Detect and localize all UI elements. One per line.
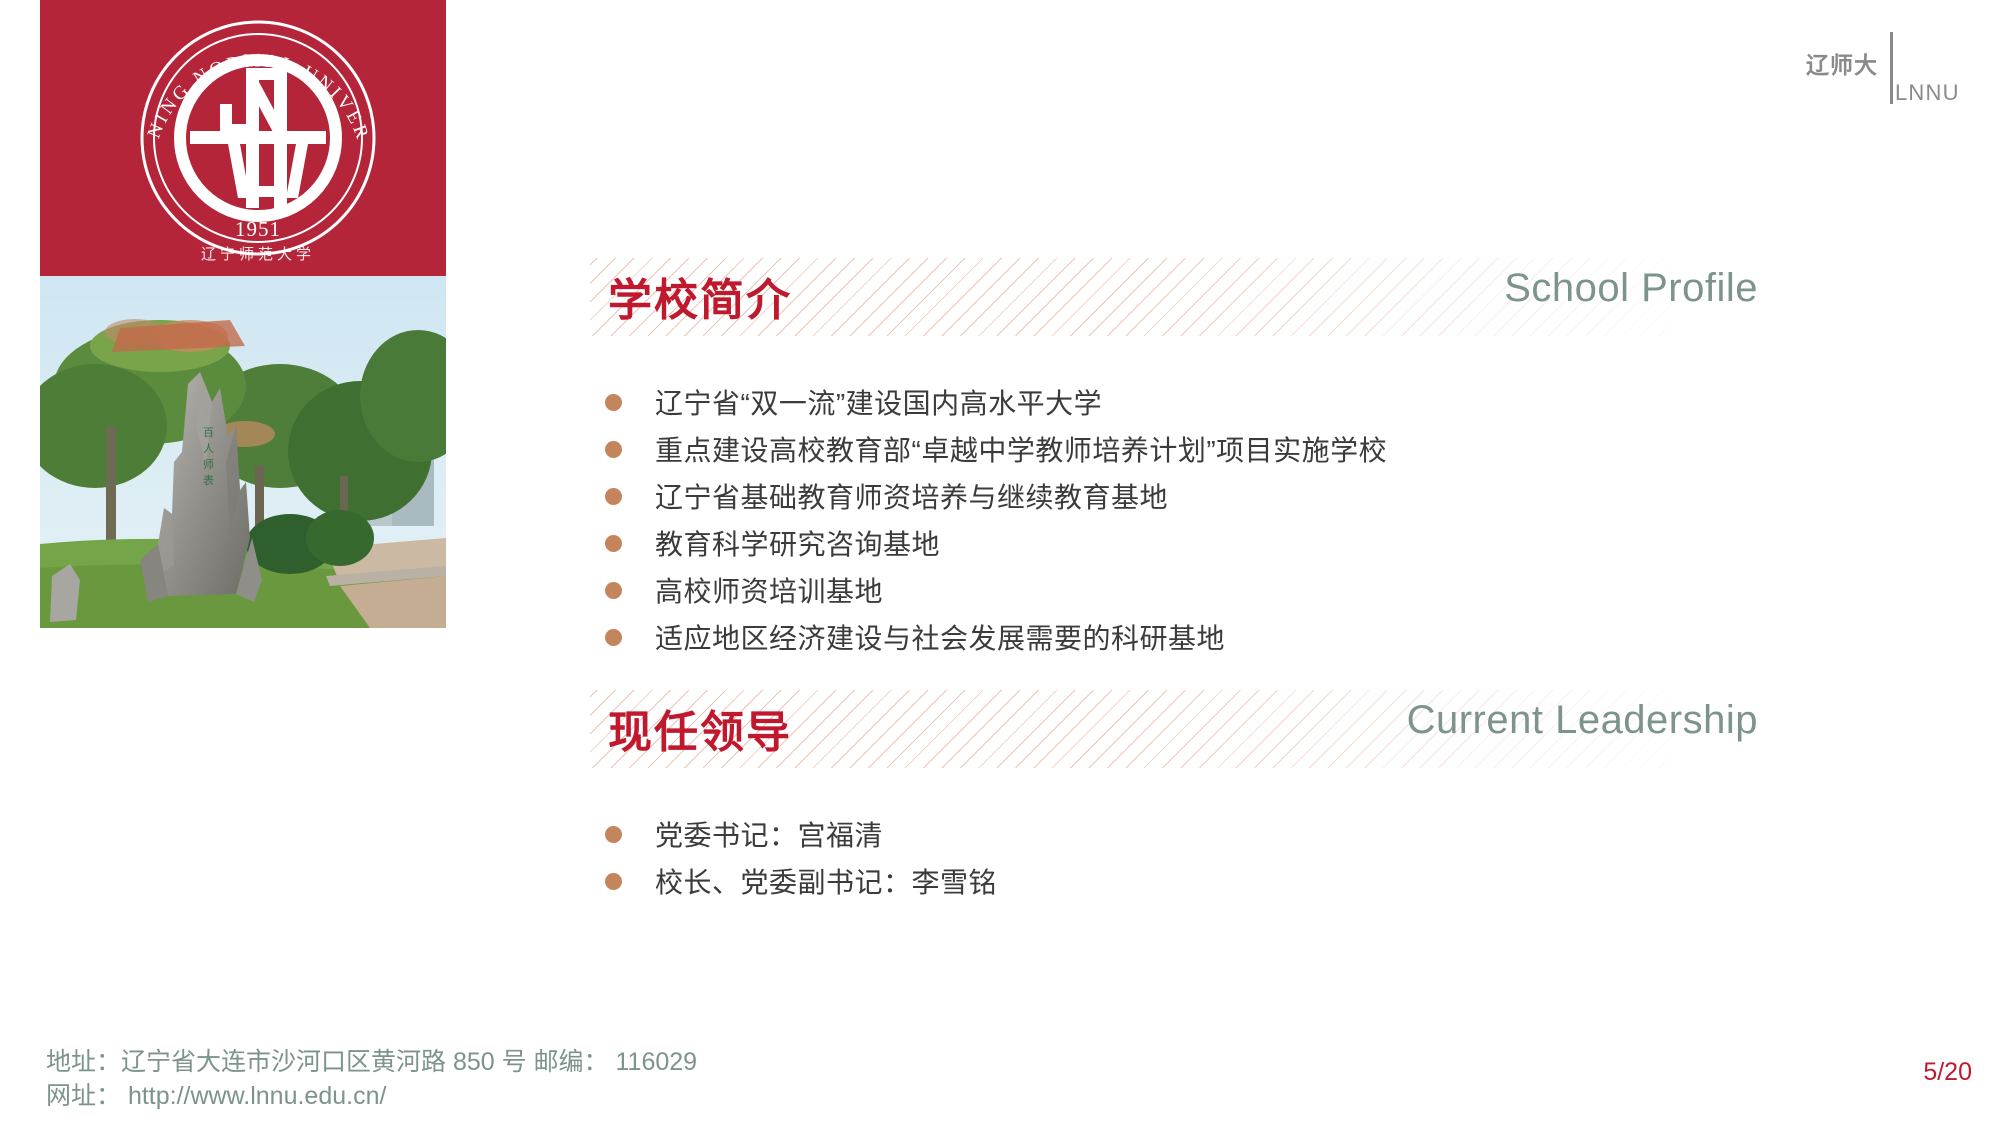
svg-text:人: 人 (203, 442, 214, 455)
bullet-dot-icon (605, 394, 622, 411)
list-item: 适应地区经济建设与社会发展需要的科研基地 (605, 615, 1805, 662)
footer-contact: 地址：辽宁省大连市沙河口区黄河路 850 号 邮编： 116029 网址： ht… (46, 1046, 697, 1114)
svg-text:1951: 1951 (235, 217, 281, 241)
list-item: 党委书记：宫福清 (605, 812, 1805, 859)
list-item: 辽宁省基础教育师资培养与继续教育基地 (605, 474, 1805, 521)
svg-text:辽宁师范大学: 辽宁师范大学 (201, 245, 315, 263)
list-item-label: 高校师资培训基地 (655, 570, 883, 610)
list-item: 重点建设高校教育部“卓越中学教师培养计划”项目实施学校 (605, 427, 1805, 474)
bullet-dot-icon (605, 582, 622, 599)
list-item-label: 重点建设高校教育部“卓越中学教师培养计划”项目实施学校 (655, 429, 1387, 469)
bullet-dot-icon (605, 629, 622, 646)
list-item-label: 教育科学研究咨询基地 (655, 523, 940, 563)
university-seal-icon: LIAONING NORMAL UNIVERSITY 1951 辽宁师范大学 (128, 8, 388, 268)
section-title-cn: 学校简介 (608, 264, 792, 328)
section-title-cn: 现任领导 (608, 696, 792, 760)
bullet-dot-icon (605, 535, 622, 552)
list-item: 教育科学研究咨询基地 (605, 521, 1805, 568)
brand-name-cn: 辽师大 (1806, 46, 1878, 80)
svg-text:百: 百 (203, 426, 214, 439)
footer-address: 地址：辽宁省大连市沙河口区黄河路 850 号 邮编： 116029 (46, 1046, 697, 1080)
campus-photo: 百人 师表 (40, 276, 446, 628)
list-item: 辽宁省“双一流”建设国内高水平大学 (605, 380, 1805, 427)
current-leadership-list: 党委书记：宫福清 校长、党委副书记：李雪铭 (605, 812, 1805, 906)
brand-mark: 辽师大 LNNU (1790, 32, 1990, 122)
page-number: 5/20 (1923, 1058, 1972, 1087)
list-item: 校长、党委副书记：李雪铭 (605, 859, 1805, 906)
section-title-en: Current Leadership (1407, 698, 1758, 743)
brand-divider-rule (1890, 32, 1893, 104)
bullet-dot-icon (605, 873, 622, 890)
section-title-en: School Profile (1504, 266, 1758, 311)
bullet-dot-icon (605, 441, 622, 458)
svg-text:表: 表 (203, 473, 214, 487)
list-item-label: 辽宁省基础教育师资培养与继续教育基地 (655, 476, 1168, 516)
list-item-label: 党委书记：宫福清 (655, 814, 883, 854)
section-header-current-leadership: 现任领导 Current Leadership (590, 690, 1770, 768)
bullet-dot-icon (605, 826, 622, 843)
footer-website[interactable]: 网址： http://www.lnnu.edu.cn/ (46, 1080, 697, 1114)
campus-photo-image: 百人 师表 (40, 276, 446, 628)
list-item: 高校师资培训基地 (605, 568, 1805, 615)
list-item-label: 适应地区经济建设与社会发展需要的科研基地 (655, 617, 1225, 657)
svg-text:师: 师 (203, 458, 214, 471)
school-profile-list: 辽宁省“双一流”建设国内高水平大学 重点建设高校教育部“卓越中学教师培养计划”项… (605, 380, 1805, 662)
section-header-school-profile: 学校简介 School Profile (590, 258, 1770, 336)
list-item-label: 辽宁省“双一流”建设国内高水平大学 (655, 382, 1102, 422)
brand-name-en: LNNU (1895, 80, 1960, 106)
bullet-dot-icon (605, 488, 622, 505)
slide-canvas: 辽师大 LNNU LIAONING NORMAL UNIVERSITY (0, 0, 2000, 1125)
list-item-label: 校长、党委副书记：李雪铭 (655, 861, 997, 901)
university-logo-panel: LIAONING NORMAL UNIVERSITY 1951 辽宁师范大学 (40, 0, 446, 276)
